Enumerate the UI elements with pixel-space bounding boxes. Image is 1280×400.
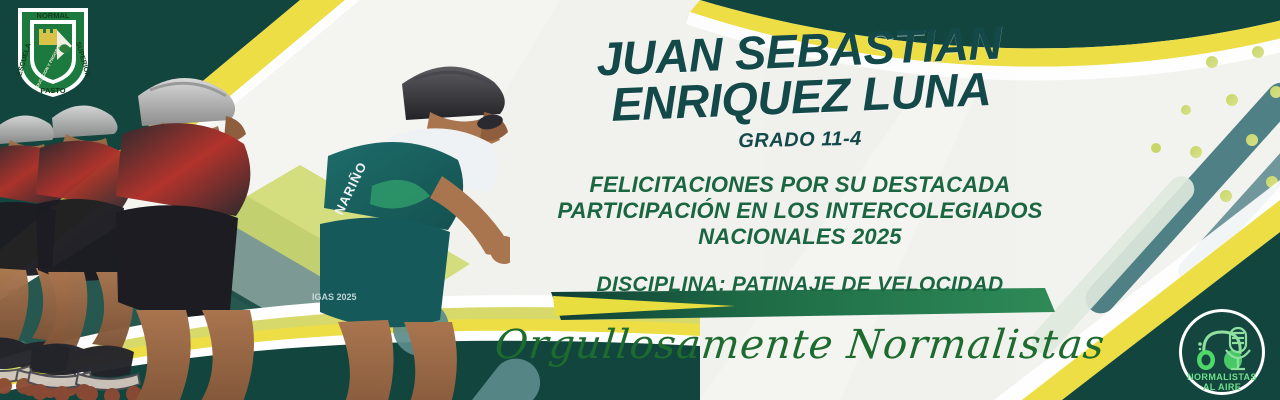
message-line-2: PARTICIPACIÓN EN LOS INTERCOLEGIADOS <box>470 198 1130 224</box>
message-block: JUAN SEBASTIAN ENRIQUEZ LUNA GRADO 11-4 … <box>470 12 1130 332</box>
svg-text:IGAS 2025: IGAS 2025 <box>312 292 357 302</box>
normalistas-al-aire-logo: NORMALISTAS AL AIRE <box>1178 308 1266 396</box>
footer-script-text: Orgullosamente Normalistas <box>468 322 1133 368</box>
message-line-1: FELICITACIONES POR SU DESTACADA <box>470 172 1130 198</box>
radio-logo-line2: AL AIRE <box>1203 382 1241 392</box>
message-line-3: NACIONALES 2025 <box>470 224 1130 250</box>
congratulation-message: FELICITACIONES POR SU DESTACADA PARTICIP… <box>470 172 1130 249</box>
discipline-label: DISCIPLINA: PATINAJE DE VELOCIDAD <box>470 273 1130 297</box>
page-title: JUAN SEBASTIAN ENRIQUEZ LUNA <box>468 14 1131 134</box>
speed-skaters-photo: NARIÑO IGAS 2025 <box>0 60 510 400</box>
school-crest-logo: NORMAL PASTO ESCUELA SUPERIOR EDUCACION … <box>14 4 92 100</box>
crest-top-label: NORMAL <box>37 11 70 20</box>
radio-logo-line1: NORMALISTAS <box>1187 372 1257 382</box>
crest-bottom-label: PASTO <box>40 86 65 95</box>
athlete-last-names: ENRIQUEZ LUNA <box>470 60 1131 134</box>
congratulation-banner: NARIÑO IGAS 2025 <box>0 0 1280 400</box>
